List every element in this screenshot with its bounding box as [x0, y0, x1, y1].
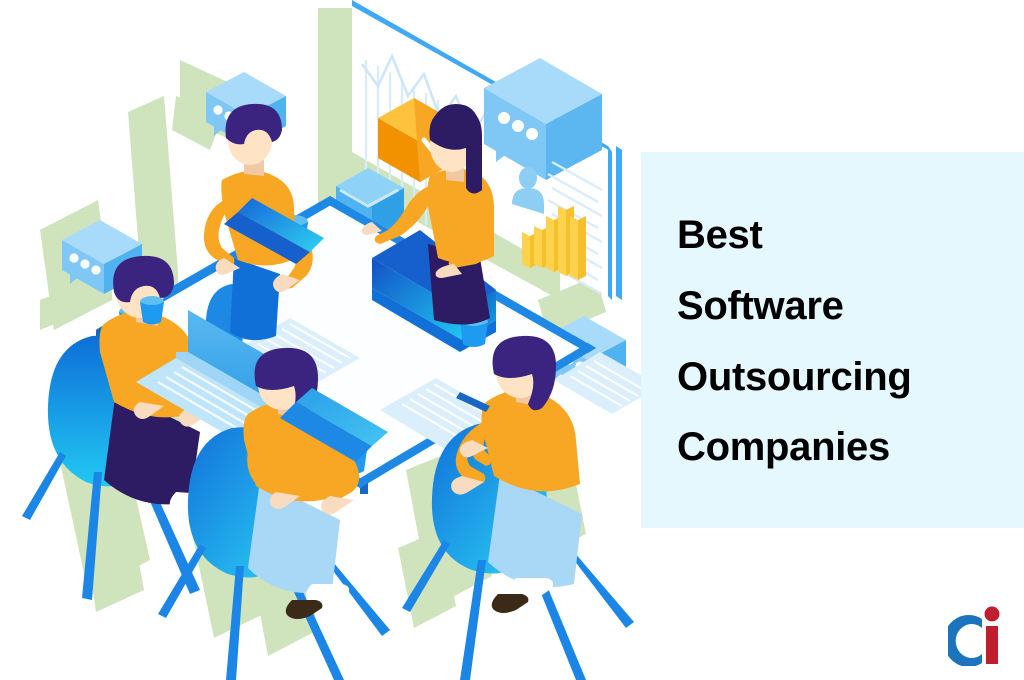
headline-panel: Best Software Outsourcing Companies: [641, 152, 1024, 528]
ci-logo[interactable]: [948, 604, 1010, 666]
page-title: Best Software Outsourcing Companies: [677, 200, 1007, 483]
headline-line-1: Best: [677, 200, 1007, 271]
logo-letter-c: [948, 615, 982, 666]
logo-letter-i: [985, 607, 1000, 665]
coffee-cup-5: [140, 296, 164, 325]
accent-bar: [616, 146, 622, 300]
poster-canvas: Best Software Outsourcing Companies: [0, 0, 1024, 680]
headline-line-2: Software: [677, 271, 1007, 342]
team-meeting-illustration: [0, 0, 660, 680]
headline-line-4: Companies: [677, 412, 1007, 483]
headline-line-3: Outsourcing: [677, 342, 1007, 413]
